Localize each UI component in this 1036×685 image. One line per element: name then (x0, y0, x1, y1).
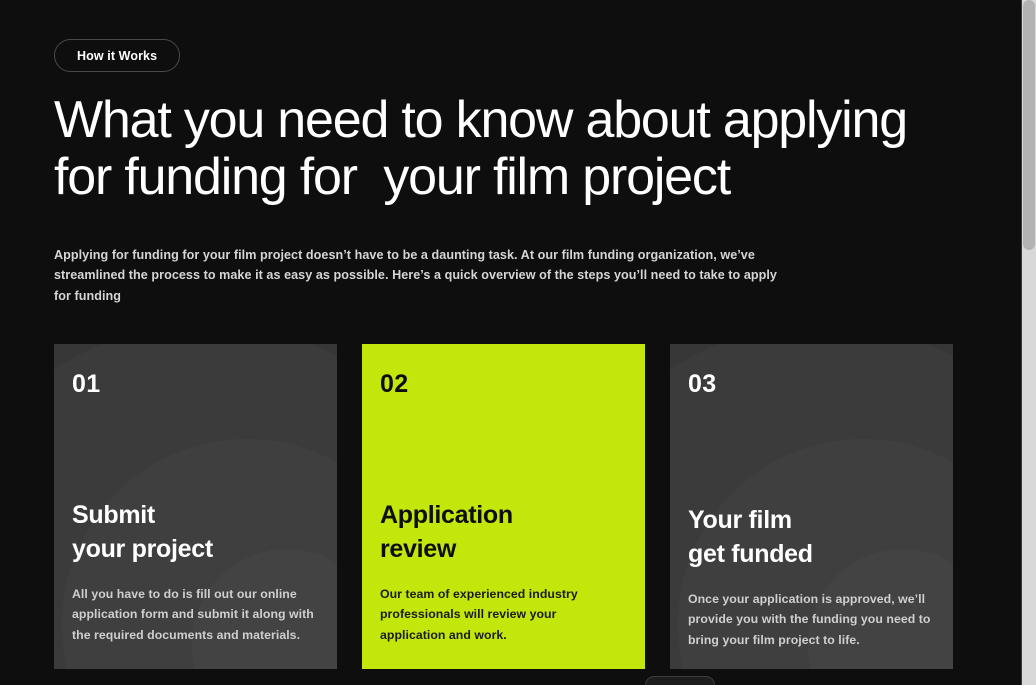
how-it-works-section: How it Works What you need to know about… (0, 0, 1036, 685)
step-number: 03 (688, 372, 931, 397)
step-number: 01 (72, 372, 315, 397)
step-title: Your film get funded (688, 503, 931, 571)
step-description: Our team of experienced industry profess… (380, 584, 623, 645)
scrollbar-thumb[interactable] (1023, 0, 1035, 250)
section-intro-text: Applying for funding for your film proje… (54, 245, 784, 306)
step-title: Submit your project (72, 498, 315, 566)
step-text-block: Submit your project All you have to do i… (72, 498, 315, 669)
step-text-block: Your film get funded Once your applicati… (688, 503, 931, 669)
step-card-content: 03 Your film get funded Once your applic… (670, 344, 953, 669)
step-card-content: 02 Application review Our team of experi… (362, 344, 645, 669)
section-content: How it Works What you need to know about… (0, 0, 1022, 685)
step-text-block: Application review Our team of experienc… (380, 498, 623, 669)
step-card-03[interactable]: 03 Your film get funded Once your applic… (670, 344, 953, 669)
step-card-01[interactable]: 01 Submit your project All you have to d… (54, 344, 337, 669)
page-scrollbar[interactable] (1022, 0, 1036, 685)
step-title: Application review (380, 498, 623, 566)
steps-card-row: 01 Submit your project All you have to d… (54, 344, 951, 669)
page-title: What you need to know about applying for… (54, 92, 954, 206)
step-card-content: 01 Submit your project All you have to d… (54, 344, 337, 669)
step-number: 02 (380, 372, 623, 397)
step-card-02[interactable]: 02 Application review Our team of experi… (362, 344, 645, 669)
below-fold-button[interactable] (645, 676, 715, 685)
section-badge: How it Works (54, 39, 180, 72)
step-description: Once your application is approved, we’ll… (688, 589, 931, 650)
step-description: All you have to do is fill out our onlin… (72, 584, 315, 645)
